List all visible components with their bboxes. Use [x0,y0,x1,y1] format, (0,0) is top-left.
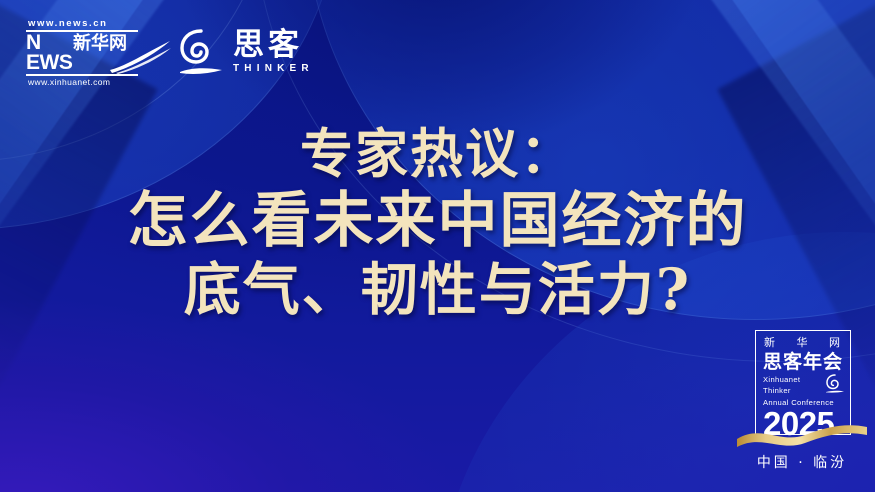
badge-org-cn: 新 华 网 [763,336,845,350]
gold-ribbon [735,422,869,448]
thinker-logo[interactable]: 思客 THINKER [178,27,316,77]
poster-root: www.news.cn N EWS 新华网 www.xinhuanet.com … [0,0,875,492]
conference-badge[interactable]: 新 华 网 思客年会 Xinhuanet Thinker Annual Conf… [733,318,871,486]
badge-event-cn: 思客年会 [763,351,845,373]
xinhuanet-news-text: N EWS [26,32,73,74]
badge-city: 中国 · 临汾 [733,452,871,472]
thinker-text: 思客 THINKER [233,29,316,75]
xinhuanet-url-bottom: www.xinhuanet.com [26,77,138,88]
badge-content: 新 华 网 思客年会 Xinhuanet Thinker Annual Conf… [755,330,851,435]
xinhuanet-url-top: www.news.cn [26,18,138,29]
xinhuanet-logo[interactable]: www.news.cn N EWS 新华网 www.xinhuanet.com [26,18,138,84]
thinker-spiral-icon [178,27,224,77]
thinker-name-cn: 思客 [233,29,316,62]
xinhuanet-news-line1: N [26,33,73,53]
xinhuanet-news-line2: EWS [26,53,73,73]
thinker-name-en: THINKER [233,62,316,75]
thinker-spiral-icon [825,373,845,393]
logo-bar: www.news.cn N EWS 新华网 www.xinhuanet.com … [26,18,316,84]
swoosh-icon [110,40,172,74]
